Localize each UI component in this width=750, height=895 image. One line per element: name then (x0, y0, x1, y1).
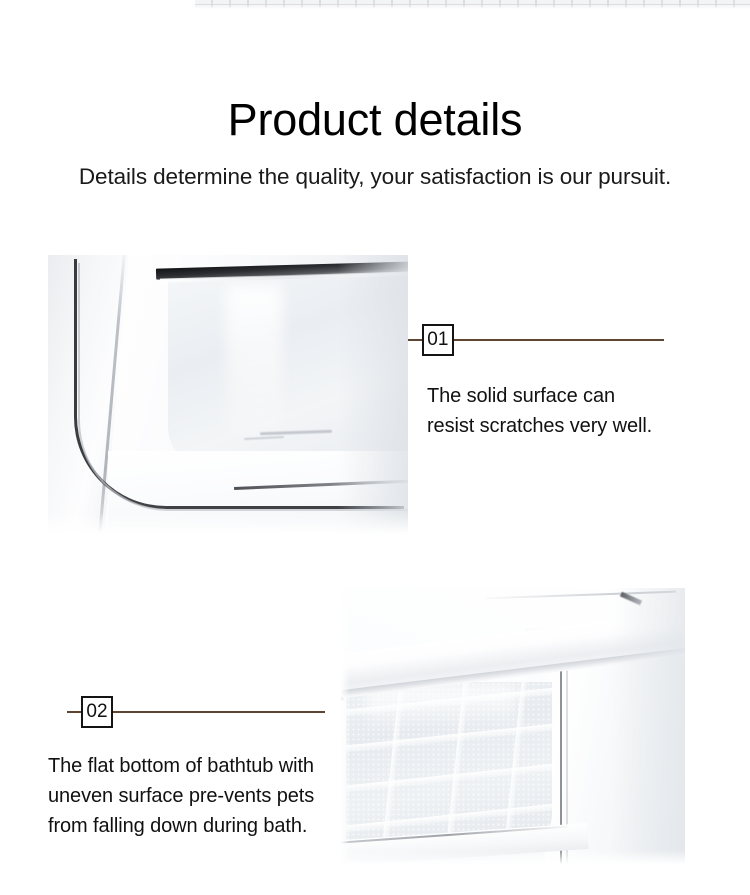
callout-02-description: The flat bottom of bathtub with uneven s… (48, 751, 330, 841)
callout-01-description: The solid surface can resist scratches v… (427, 381, 657, 441)
top-texture-strip (195, 0, 750, 9)
photo-1-bottom-fade (48, 512, 408, 538)
photo-2-left-fade (338, 588, 350, 868)
photo-2-bottom-fade (338, 850, 685, 868)
product-photo-2 (338, 588, 685, 868)
page-subtitle: Details determine the quality, your sati… (0, 164, 750, 190)
photo-2-right-shading (611, 588, 685, 868)
callout-01-rule-right (454, 339, 664, 341)
page-header: Product details Details determine the qu… (0, 92, 750, 190)
tub-antislip-bottom (346, 682, 552, 850)
photo-1-right-shading (338, 255, 408, 538)
callout-02-rule-left (67, 711, 81, 713)
callout-section-01: 01 The solid surface can resist scratche… (408, 327, 664, 441)
antislip-highlight (366, 686, 516, 730)
product-photo-1 (48, 255, 408, 538)
callout-02-rule-row: 02 (67, 699, 329, 725)
callout-01-number-badge: 01 (422, 324, 454, 356)
callout-01-rule-left (408, 339, 422, 341)
page-title: Product details (0, 92, 750, 148)
callout-02-rule-right (113, 711, 325, 713)
callout-02-number-badge: 02 (81, 696, 113, 728)
callout-01-rule-row: 01 (408, 327, 664, 353)
callout-section-02: 02 The flat bottom of bathtub with uneve… (67, 699, 329, 841)
product-details-page: Product details Details determine the qu… (0, 0, 750, 895)
